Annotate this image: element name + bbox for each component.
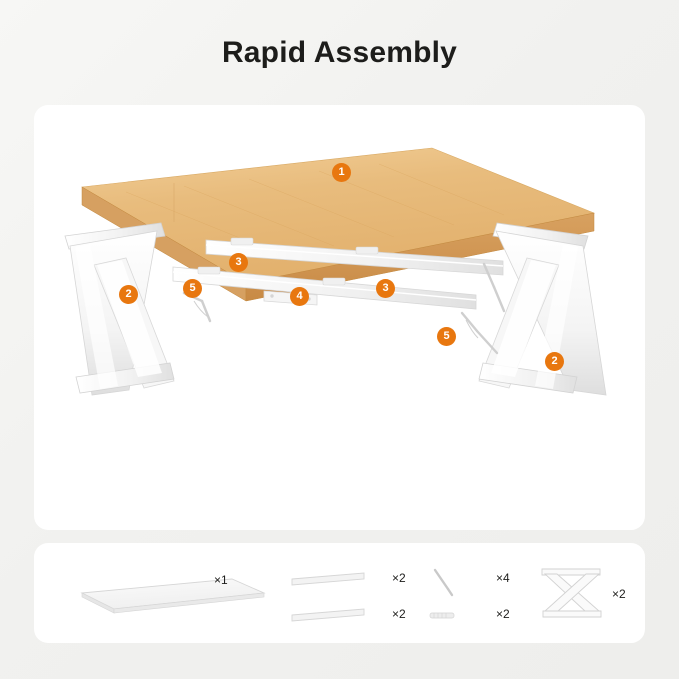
assembly-diagram-card: 1 2 2 3 3 4 5 5 [34,105,645,530]
tabletop-icon [82,579,264,613]
allen-wrench-icon [435,570,452,595]
page-title: Rapid Assembly [0,36,679,70]
bar-icon-b [292,609,364,621]
callout-badge-3-upper[interactable]: 3 [229,253,248,272]
parts-qty-bar-a: ×2 [392,571,406,585]
x-leg-icon [542,569,601,617]
parts-qty-allen-wrench: ×4 [496,571,510,585]
parts-qty-screw: ×2 [496,607,510,621]
parts-list-svg [34,543,645,643]
callout-badge-1[interactable]: 1 [332,163,351,182]
callout-badge-2-right[interactable]: 2 [545,352,564,371]
callout-badge-5-left[interactable]: 5 [183,279,202,298]
callout-badge-2-left[interactable]: 2 [119,285,138,304]
screw-icon [430,613,454,618]
callout-badge-3-lower[interactable]: 3 [376,279,395,298]
parts-qty-x-leg: ×2 [612,587,626,601]
leader-lines [194,301,478,338]
bar-icon-a [292,573,364,585]
parts-qty-tabletop: ×1 [214,573,228,587]
page-background: Rapid Assembly [0,0,679,679]
parts-list-card: ×1 ×2 ×2 ×4 ×2 ×2 [34,543,645,643]
callout-badge-5-right[interactable]: 5 [437,327,456,346]
parts-qty-bar-b: ×2 [392,607,406,621]
callout-badge-4[interactable]: 4 [290,287,309,306]
